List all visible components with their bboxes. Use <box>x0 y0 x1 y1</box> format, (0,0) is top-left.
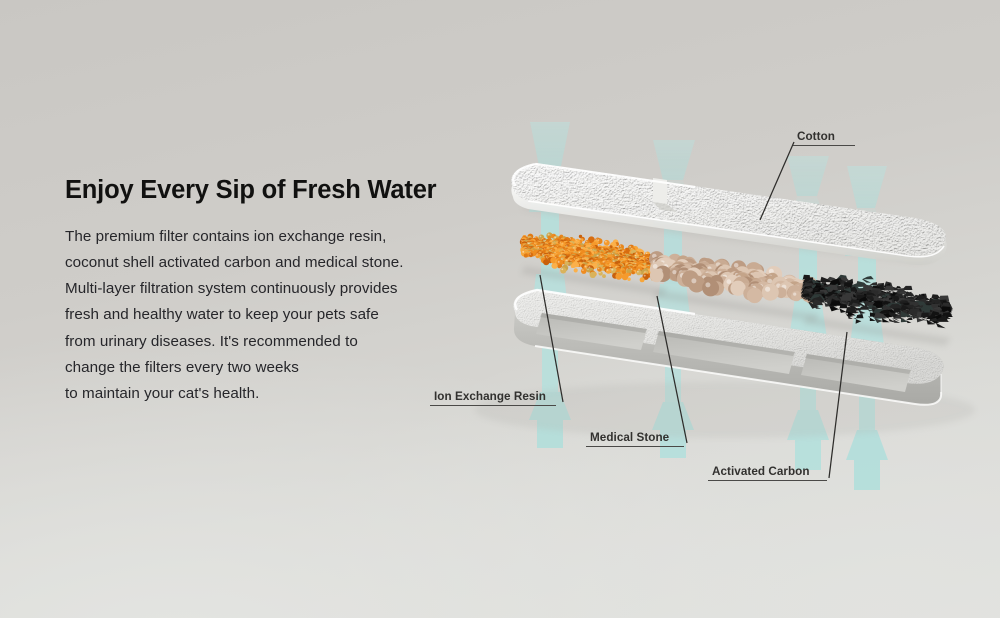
callout-label-ion-exchange-resin: Ion Exchange Resin <box>430 390 556 405</box>
callout-ion-exchange-resin: Ion Exchange Resin <box>430 390 556 406</box>
filter-exploded-diagram <box>395 100 1000 520</box>
callout-cotton: Cotton <box>793 130 855 146</box>
callout-underline <box>430 405 556 406</box>
callout-underline <box>586 446 684 447</box>
callout-activated-carbon: Activated Carbon <box>708 465 827 481</box>
callout-medical-stone: Medical Stone <box>586 431 684 447</box>
illustration-stage: Enjoy Every Sip of Fresh Water The premi… <box>0 0 1000 618</box>
callout-label-activated-carbon: Activated Carbon <box>708 465 827 480</box>
callout-label-medical-stone: Medical Stone <box>586 431 684 446</box>
callout-label-cotton: Cotton <box>793 130 855 145</box>
callout-underline <box>793 145 855 146</box>
callout-underline <box>708 480 827 481</box>
